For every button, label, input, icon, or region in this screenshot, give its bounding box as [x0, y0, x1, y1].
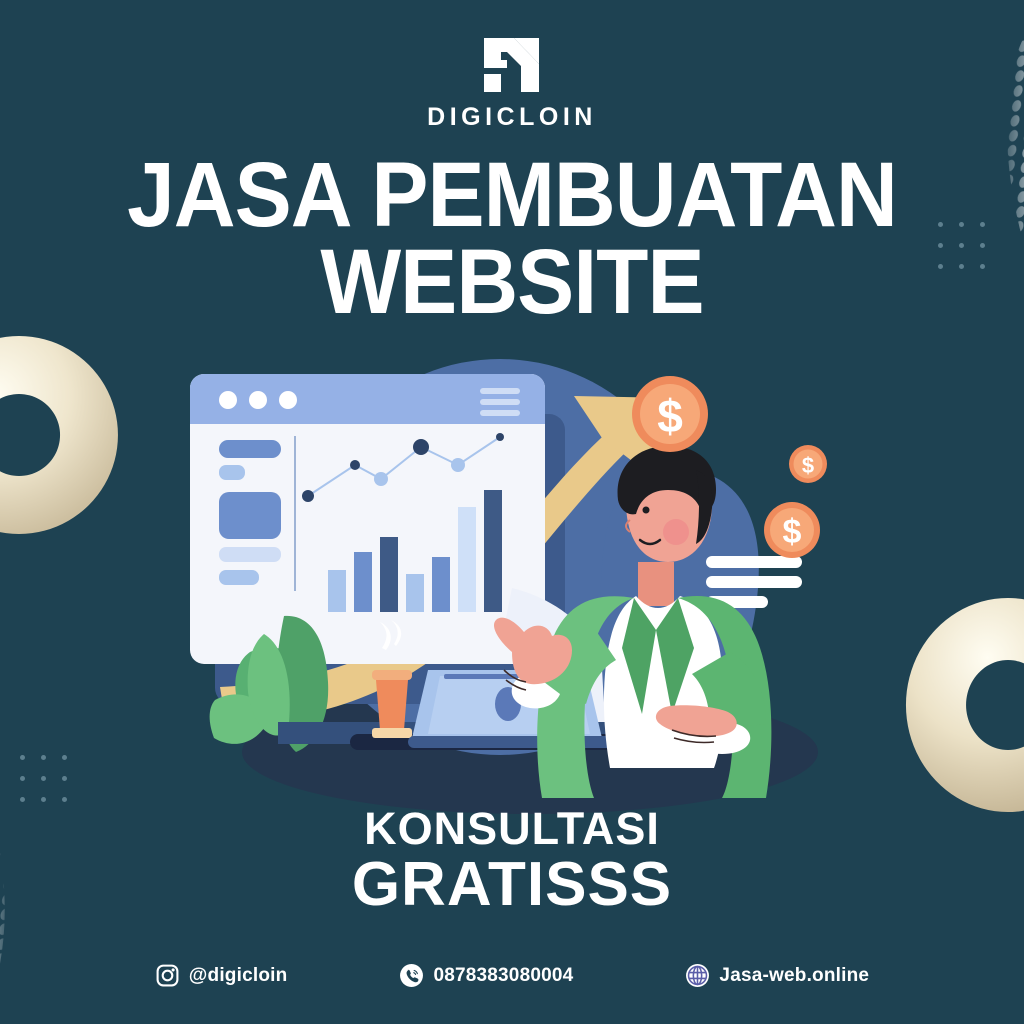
footer-contact-bar: @digicloin 0878383080004 Jasa-web.online — [0, 963, 1024, 988]
sidebar-block-1 — [219, 440, 281, 458]
coin-small: $ — [789, 445, 827, 483]
tagline-line-2: GRATISSS — [0, 854, 1024, 916]
svg-text:$: $ — [783, 513, 802, 551]
instagram-icon — [155, 963, 180, 988]
cheek-blush — [663, 519, 689, 545]
contact-phone[interactable]: 0878383080004 — [399, 963, 573, 988]
window-dot-3 — [279, 391, 297, 409]
info-line-1 — [706, 556, 802, 568]
window-dot-2 — [249, 391, 267, 409]
contact-website[interactable]: Jasa-web.online — [685, 963, 869, 988]
window-dot-1 — [219, 391, 237, 409]
contact-phone-label: 0878383080004 — [433, 965, 573, 987]
eye — [643, 507, 650, 514]
coin-medium: $ — [764, 502, 820, 558]
info-line-2 — [706, 576, 802, 588]
menu-line-1 — [480, 388, 520, 394]
headline-line-1: JASA PEMBUATAN — [36, 152, 988, 239]
contact-instagram-label: @digicloin — [189, 965, 288, 987]
headline-line-2: WEBSITE — [36, 239, 988, 326]
sidebar-block-2 — [219, 465, 245, 480]
contact-instagram[interactable]: @digicloin — [155, 963, 288, 988]
torus-blob-right — [888, 580, 1024, 830]
tagline-block: KONSULTASI GRATISSS — [0, 806, 1024, 916]
poster-canvas: DIGICLOIN JASA PEMBUATAN WEBSITE — [0, 0, 1024, 1024]
menu-line-3 — [480, 410, 520, 416]
tagline-line-1: KONSULTASI — [0, 806, 1024, 851]
digicloin-mark-icon — [481, 36, 543, 94]
brand-logo-block: DIGICLOIN — [0, 36, 1024, 132]
sidebar-block-5 — [219, 570, 259, 585]
globe-icon — [685, 963, 710, 988]
coin-large: $ — [632, 376, 708, 452]
contact-website-label: Jasa-web.online — [719, 965, 869, 987]
sidebar-block-3 — [219, 492, 281, 539]
sidebar-block-4 — [219, 547, 281, 562]
menu-line-2 — [480, 399, 520, 405]
page-title: JASA PEMBUATAN WEBSITE — [36, 152, 988, 327]
dot-grid-left — [20, 755, 67, 802]
torus-blob-left — [0, 320, 134, 550]
svg-text:$: $ — [802, 453, 814, 478]
brand-wordmark: DIGICLOIN — [427, 103, 597, 132]
phone-icon — [399, 963, 424, 988]
svg-text:$: $ — [657, 390, 683, 442]
browser-window — [190, 374, 545, 664]
analytics-dashboard-illustration: $ $ $ — [160, 352, 880, 822]
sidebar-divider — [294, 436, 296, 591]
